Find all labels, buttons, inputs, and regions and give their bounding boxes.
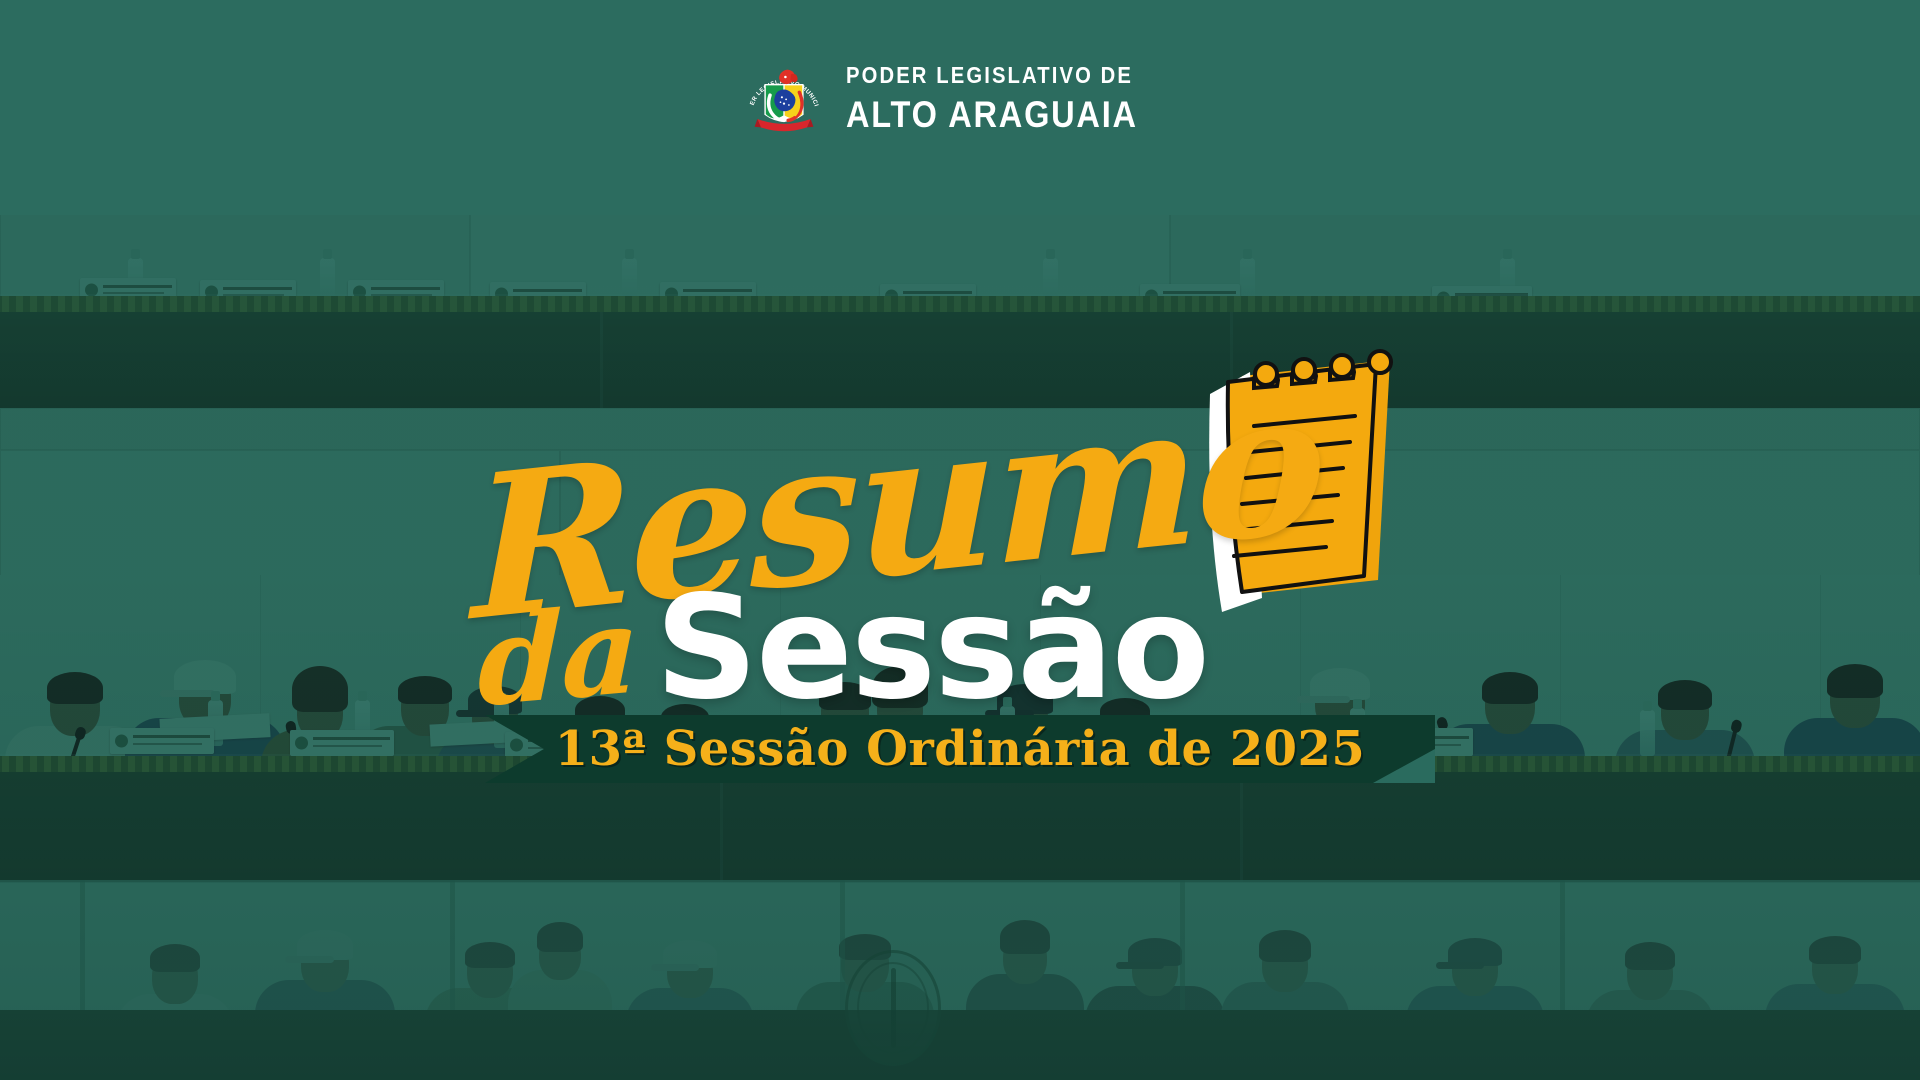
header-title-group: PODER LEGISLATIVO DE ALTO ARAGUAIA — [846, 64, 1178, 133]
brand-header: PODER LEGISLATIVO MUNICIPAL — [0, 56, 1920, 140]
alto-araguaia-coat-of-arms: PODER LEGISLATIVO MUNICIPAL — [742, 56, 826, 140]
header-line-2: ALTO ARAGUAIA — [846, 96, 1138, 133]
session-ribbon: 13ª Sessão Ordinária de 2025 — [485, 715, 1435, 783]
poster-canvas: PODER LEGISLATIVO MUNICIPAL — [0, 0, 1920, 1080]
header-line-1: PODER LEGISLATIVO DE — [846, 64, 1138, 87]
notepad-icon — [1180, 348, 1420, 618]
session-ribbon-text: 13ª Sessão Ordinária de 2025 — [555, 721, 1366, 777]
